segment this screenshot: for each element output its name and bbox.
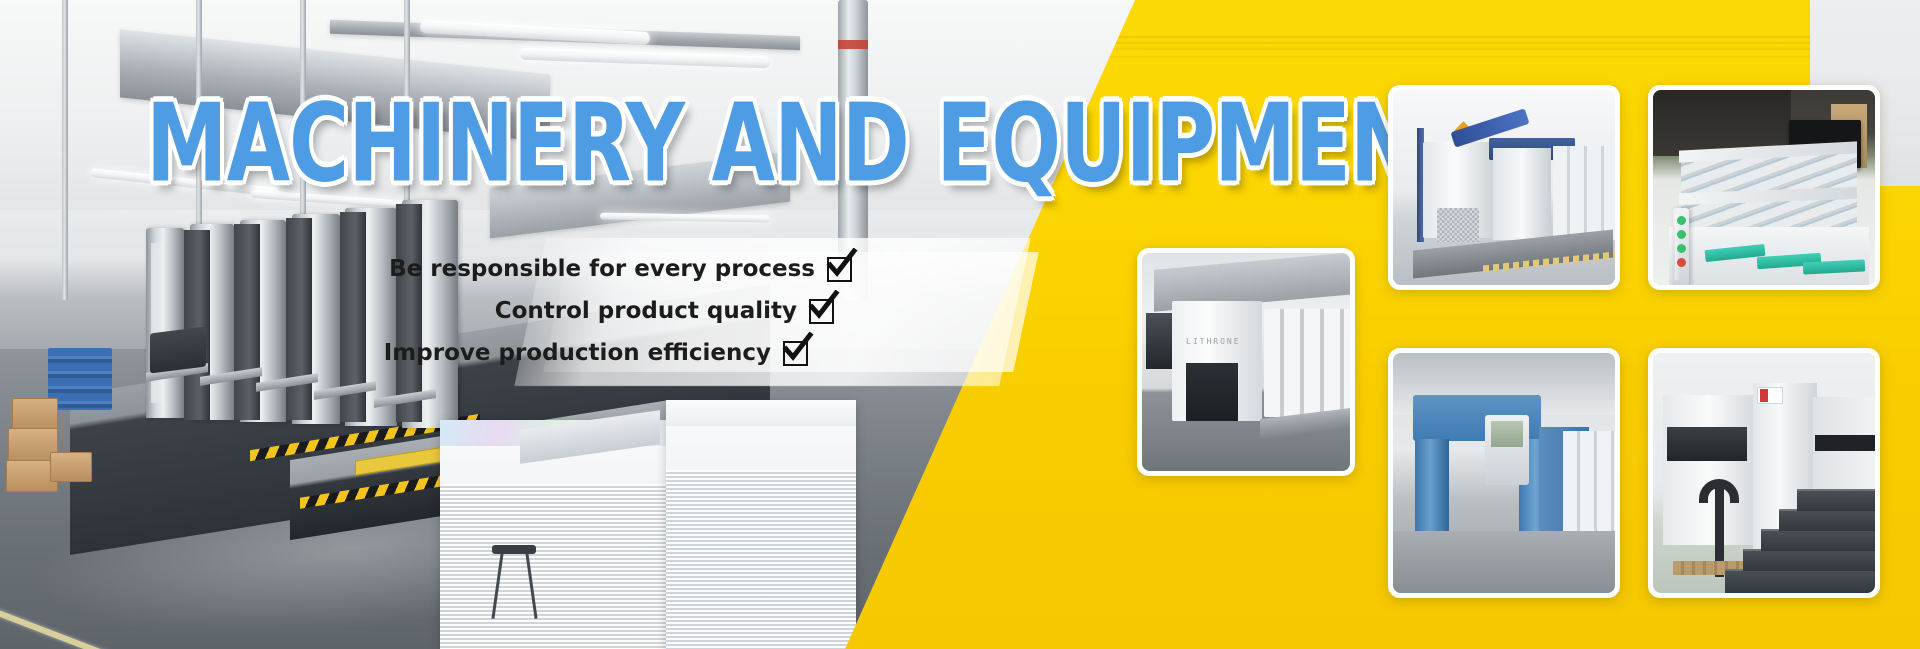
lithrone-printing-units <box>1264 309 1350 417</box>
paper-stack-right <box>666 400 856 649</box>
paper-stack-right-top <box>666 400 856 426</box>
support-pole-1 <box>62 0 68 300</box>
stool-leg-1 <box>491 553 503 619</box>
press-gap-3 <box>286 218 312 420</box>
paper-stack-left-edges <box>440 484 670 649</box>
press-operator-monitor <box>150 327 206 374</box>
stair-step-4 <box>1779 509 1875 531</box>
stair-step-3 <box>1761 529 1875 551</box>
checkbox-checked-icon <box>783 341 808 366</box>
press-unit-2 <box>1493 148 1551 240</box>
thumb-blue-white-press[interactable] <box>1388 85 1620 290</box>
lithrone-control-cabinet <box>1146 313 1172 369</box>
thumb-blue-white-press-image <box>1393 90 1615 285</box>
folder-gluer-art <box>1653 90 1875 285</box>
blue-press-floor <box>1393 531 1615 593</box>
gluer-lamp-green-2 <box>1677 230 1686 239</box>
feature-bullet-item: Improve production efficiency <box>560 332 808 374</box>
thumb-die-cutting-machine-image <box>1653 353 1875 593</box>
die-cutter-feeder-opening <box>1667 427 1747 461</box>
thumb-folder-gluer-line-image <box>1653 90 1875 285</box>
feature-bullet-label: Improve production efficiency <box>384 340 771 366</box>
paper-stack-right-edges <box>666 470 856 649</box>
stair-step-1 <box>1725 569 1875 593</box>
stool-seat <box>492 545 536 554</box>
feature-bullet-label: Control product quality <box>495 298 797 324</box>
die-cutter-black-rail <box>1815 435 1875 451</box>
gluer-lamp-red <box>1677 258 1686 267</box>
stool-leg-2 <box>525 553 537 619</box>
checkbox-checked-icon <box>809 299 834 324</box>
thumb-lithrone-press[interactable]: LITHRONE <box>1137 248 1355 476</box>
gluer-lamp-green-1 <box>1677 216 1686 225</box>
feature-bullet-list: Be responsible for every process Control… <box>560 248 1030 374</box>
page-title: MACHINERY AND EQUIPMENT <box>146 88 1472 202</box>
blue-white-press-art <box>1393 90 1615 285</box>
thumb-blue-offset-press[interactable] <box>1388 348 1620 598</box>
stair-step-2 <box>1743 549 1875 571</box>
lithrone-brand-text: LITHRONE <box>1186 337 1241 346</box>
blue-offset-press-art <box>1393 353 1615 593</box>
lithrone-open-door <box>1186 363 1238 421</box>
carton-box-4 <box>50 452 92 482</box>
feature-bullet-item: Be responsible for every process <box>560 248 852 290</box>
blue-press-console-screen <box>1491 421 1523 447</box>
press-tower-1 <box>146 228 184 418</box>
thumb-folder-gluer-line[interactable] <box>1648 85 1880 290</box>
thumb-die-cutting-machine[interactable] <box>1648 348 1880 598</box>
press-units-3 <box>1553 146 1615 240</box>
factory-stairs <box>1725 473 1875 593</box>
machinery-equipment-banner: MACHINERY AND EQUIPMENT Be responsible f… <box>0 0 1920 649</box>
gluer-lamp-green-3 <box>1677 244 1686 253</box>
die-cutting-machine-art <box>1653 353 1875 593</box>
press-gap-1 <box>184 230 210 420</box>
press-mesh-guard <box>1437 208 1479 242</box>
press-gap-5 <box>396 204 422 422</box>
operator-stool <box>492 545 536 619</box>
feature-bullet-label: Be responsible for every process <box>389 256 815 282</box>
thumb-blue-offset-press-image <box>1393 353 1615 593</box>
feature-bullet-item: Control product quality <box>560 290 834 332</box>
checkbox-checked-icon <box>827 257 852 282</box>
lithrone-press-art: LITHRONE <box>1142 253 1350 471</box>
stair-step-5 <box>1797 489 1875 511</box>
die-cutter-label-plate <box>1757 387 1783 404</box>
carton-box-1 <box>12 398 58 430</box>
thumb-lithrone-press-image: LITHRONE <box>1142 253 1350 471</box>
